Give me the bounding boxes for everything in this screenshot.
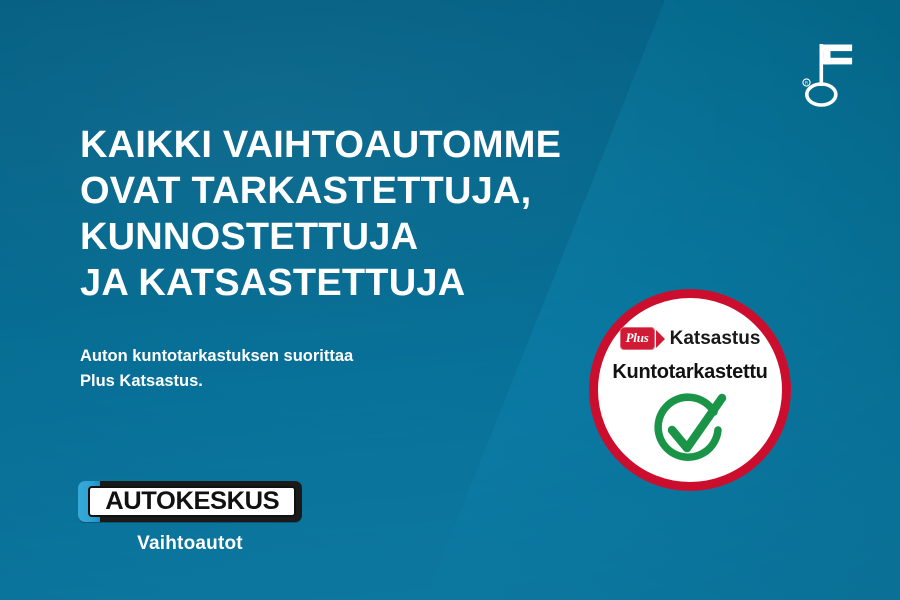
plus-chip-tail-icon — [656, 330, 665, 348]
seal-title: Kuntotarkastettu — [612, 362, 767, 382]
plus-katsastus-seal: Plus Katsastus Kuntotarkastettu — [589, 289, 791, 491]
plate-brand-text: AUTOKESKUS — [105, 489, 279, 514]
autokeskus-logo: AUTOKESKUS Vaihtoautot — [78, 481, 302, 555]
seal-brand-name: Katsastus — [670, 329, 761, 348]
plus-chip-label: Plus — [626, 330, 649, 345]
seal-brand-row: Plus Katsastus — [620, 326, 761, 350]
avainlippu-key-flag-icon: R — [784, 26, 862, 108]
green-checkmark-circle-icon — [646, 390, 734, 477]
plus-chip: Plus — [620, 327, 655, 350]
headline: KAIKKI VAIHTOAUTOMME OVAT TARKASTETTUJA,… — [80, 122, 680, 306]
license-plate-frame: AUTOKESKUS — [78, 481, 302, 522]
logo-tagline: Vaihtoautot — [78, 533, 302, 555]
subheadline: Auton kuntotarkastuksen suorittaa Plus K… — [80, 344, 500, 394]
marketing-banner: R KAIKKI VAIHTOAUTOMME OVAT TARKASTETTUJ… — [0, 0, 900, 600]
plate-inner: AUTOKESKUS — [88, 486, 296, 517]
